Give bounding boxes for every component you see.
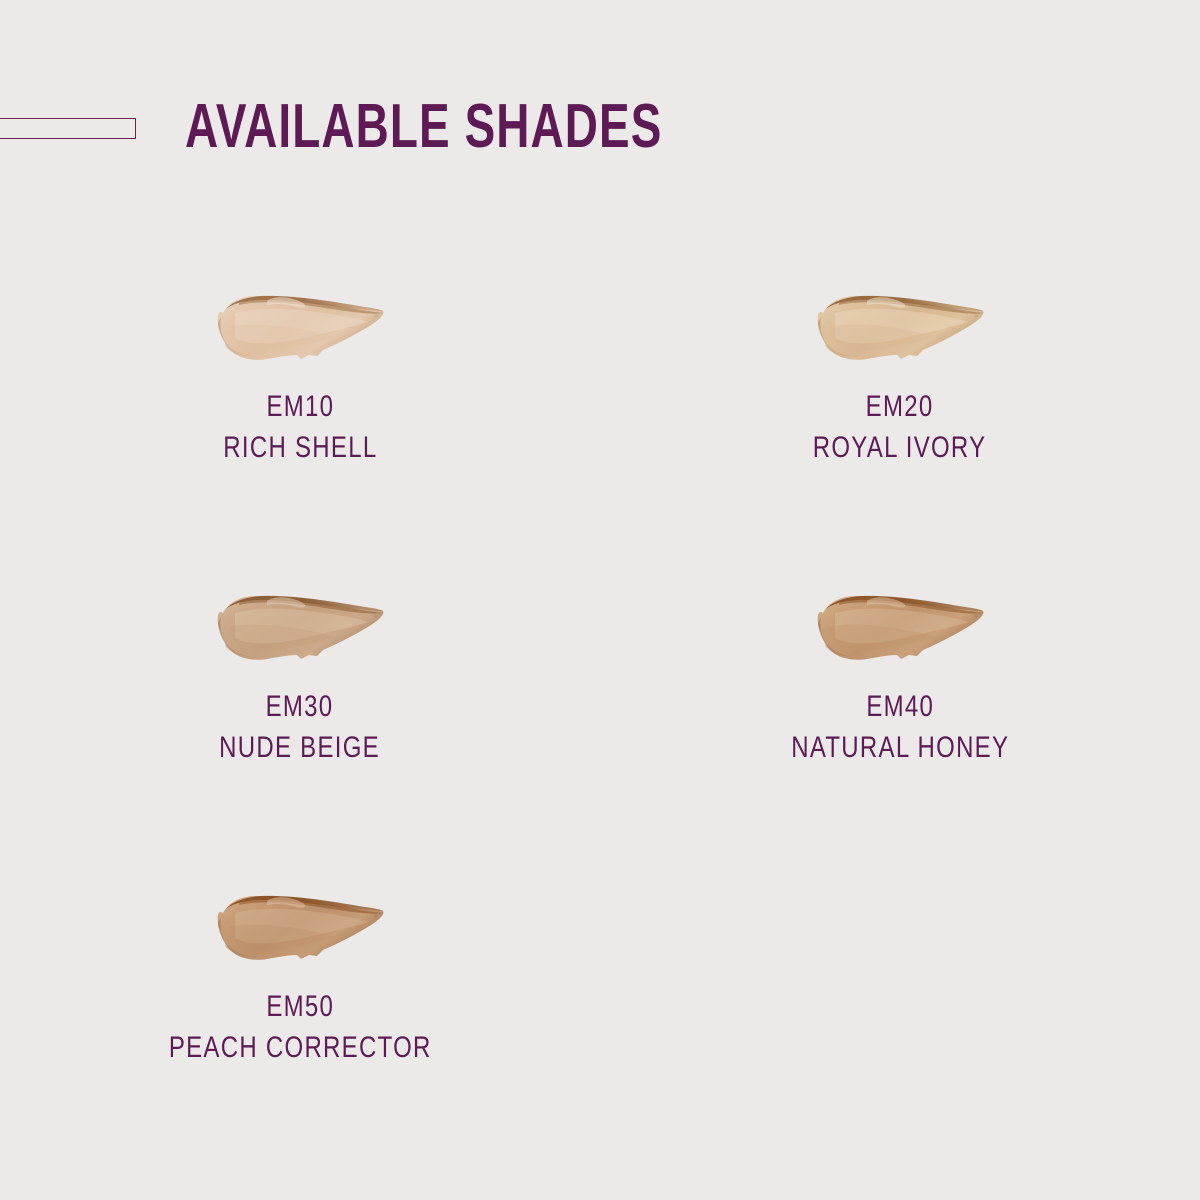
shade-name: NATURAL HONEY <box>791 727 1009 768</box>
shade-swatch[interactable] <box>813 283 988 368</box>
shade-label-group: EM30NUDE BEIGE <box>199 686 400 768</box>
shade-grid: EM10RICH SHELLEM20ROYAL IVORYEM30NUDE BE… <box>0 245 1200 1145</box>
shade-cell[interactable]: EM40NATURAL HONEY <box>600 545 1200 845</box>
shade-code: EM10 <box>223 386 377 427</box>
shade-swatch-graphic <box>813 583 988 668</box>
shade-cell[interactable]: EM10RICH SHELL <box>0 245 600 545</box>
shade-code: EM30 <box>220 686 381 727</box>
shade-cell[interactable]: EM20ROYAL IVORY <box>600 245 1200 545</box>
shade-name: ROYAL IVORY <box>813 427 987 468</box>
shade-swatch[interactable] <box>813 583 988 668</box>
shade-name: RICH SHELL <box>223 427 377 468</box>
shade-swatch-graphic <box>213 583 388 668</box>
shade-code: EM20 <box>813 386 987 427</box>
shade-swatch-graphic <box>813 283 988 368</box>
shade-label-group: EM10RICH SHELL <box>204 386 397 468</box>
shade-name: NUDE BEIGE <box>220 727 381 768</box>
shade-label-group: EM40NATURAL HONEY <box>764 686 1037 768</box>
shade-swatch[interactable] <box>213 883 388 968</box>
shade-cell[interactable]: EM30NUDE BEIGE <box>0 545 600 845</box>
shade-swatch-graphic <box>213 883 388 968</box>
shade-code: EM50 <box>169 986 432 1027</box>
page-title: AVAILABLE SHADES <box>185 96 662 158</box>
shade-name: PEACH CORRECTOR <box>169 1027 432 1068</box>
shade-cell[interactable]: EM50PEACH CORRECTOR <box>0 845 600 1145</box>
shade-label-group: EM50PEACH CORRECTOR <box>136 986 464 1068</box>
shade-swatch[interactable] <box>213 283 388 368</box>
page-header: AVAILABLE SHADES <box>0 0 1200 200</box>
shade-swatch[interactable] <box>213 583 388 668</box>
shade-label-group: EM20ROYAL IVORY <box>791 386 1008 468</box>
decorative-rule <box>0 118 136 139</box>
shade-code: EM40 <box>791 686 1009 727</box>
shade-swatch-graphic <box>213 283 388 368</box>
